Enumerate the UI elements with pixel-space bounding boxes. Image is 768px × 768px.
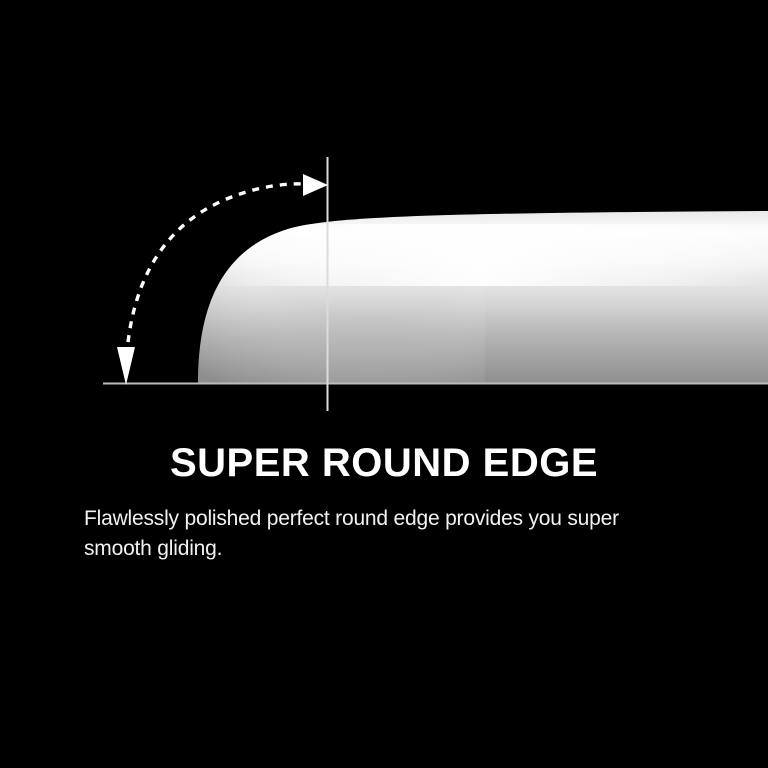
edge-diagram-svg	[0, 0, 768, 430]
polished-edge-shape	[185, 205, 768, 390]
product-feature-slide: SUPER ROUND EDGE Flawlessly polished per…	[0, 0, 768, 768]
arrowhead-right-icon	[303, 174, 328, 196]
arrowhead-down-icon	[117, 347, 135, 385]
caption-block: SUPER ROUND EDGE Flawlessly polished per…	[0, 440, 768, 564]
edge-diagram	[0, 0, 768, 430]
page-title: SUPER ROUND EDGE	[0, 440, 768, 486]
feature-description: Flawlessly polished perfect round edge p…	[84, 504, 684, 564]
